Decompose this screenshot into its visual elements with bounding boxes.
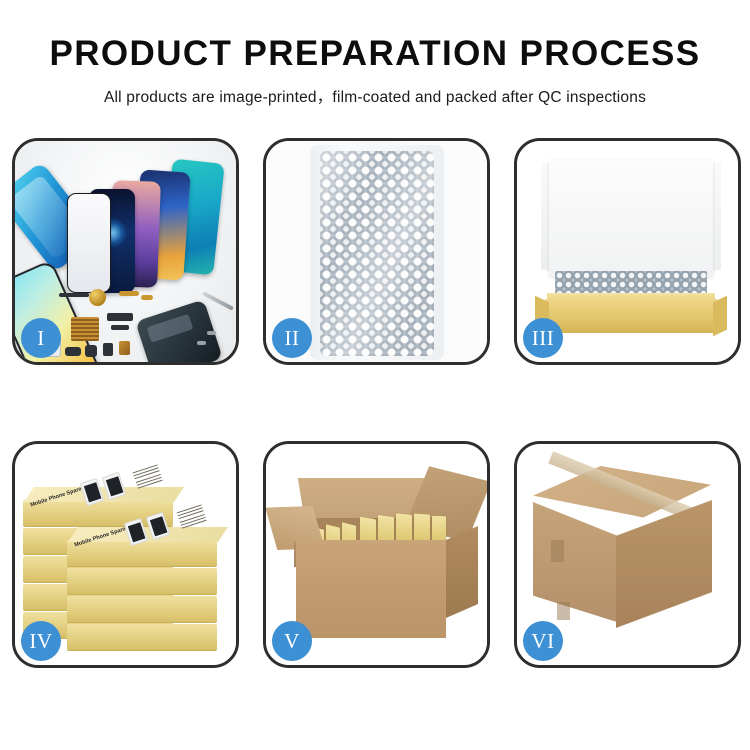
steps-row-bottom: Mobile Phone Spare Parts Mobile Phone Sp…: [12, 441, 742, 668]
step-badge-3: III: [523, 318, 563, 358]
gold-flex-part: [119, 291, 139, 296]
carton-body: [296, 540, 446, 638]
bubble-wrap-sleeve: [320, 151, 434, 356]
step-badge-6: VI: [523, 621, 563, 661]
white-foam-sheet: [549, 159, 713, 277]
page-title: PRODUCT PREPARATION PROCESS: [0, 36, 750, 71]
camera-module-part: [107, 313, 133, 321]
connector-grid-part: [71, 317, 99, 341]
sensor-flex-part: [111, 325, 129, 330]
retail-box-stack: Mobile Phone Spare Parts Mobile Phone Sp…: [23, 466, 229, 652]
page-subtitle: All products are image-printed，film-coat…: [0, 85, 750, 107]
sim-tray-part: [103, 343, 113, 356]
step-panel-1[interactable]: I: [12, 138, 239, 365]
carton-tab: [557, 602, 570, 620]
screw-part: [197, 341, 206, 345]
step-badge-2: II: [272, 318, 312, 358]
battery-connector-part: [119, 341, 130, 355]
screw-part: [207, 331, 216, 335]
speaker-part: [65, 347, 81, 356]
step-badge-1: I: [21, 318, 61, 358]
step-badge-4: IV: [21, 621, 61, 661]
carton-side: [446, 526, 478, 618]
infographic-page: PRODUCT PREPARATION PROCESS All products…: [0, 0, 750, 750]
steps-row-top: I II: [12, 138, 742, 365]
vibrator-motor-part: [89, 289, 106, 306]
kraft-inner-box: [545, 299, 717, 333]
button-part: [85, 345, 97, 357]
phone-screen-white: [67, 193, 111, 293]
flex-cable-part: [59, 293, 89, 297]
step-panel-6[interactable]: VI: [514, 441, 741, 668]
header: PRODUCT PREPARATION PROCESS All products…: [0, 0, 750, 107]
carton-left-face: [533, 502, 617, 622]
step-badge-5: V: [272, 621, 312, 661]
carton-right-face: [616, 500, 712, 628]
gold-clip-part: [141, 295, 153, 300]
step-panel-2[interactable]: II: [263, 138, 490, 365]
step-panel-5[interactable]: V: [263, 441, 490, 668]
step-panel-4[interactable]: Mobile Phone Spare Parts Mobile Phone Sp…: [12, 441, 239, 668]
step-panel-3[interactable]: III: [514, 138, 741, 365]
carton-tab: [551, 540, 564, 562]
steps-grid: I II: [12, 138, 742, 744]
